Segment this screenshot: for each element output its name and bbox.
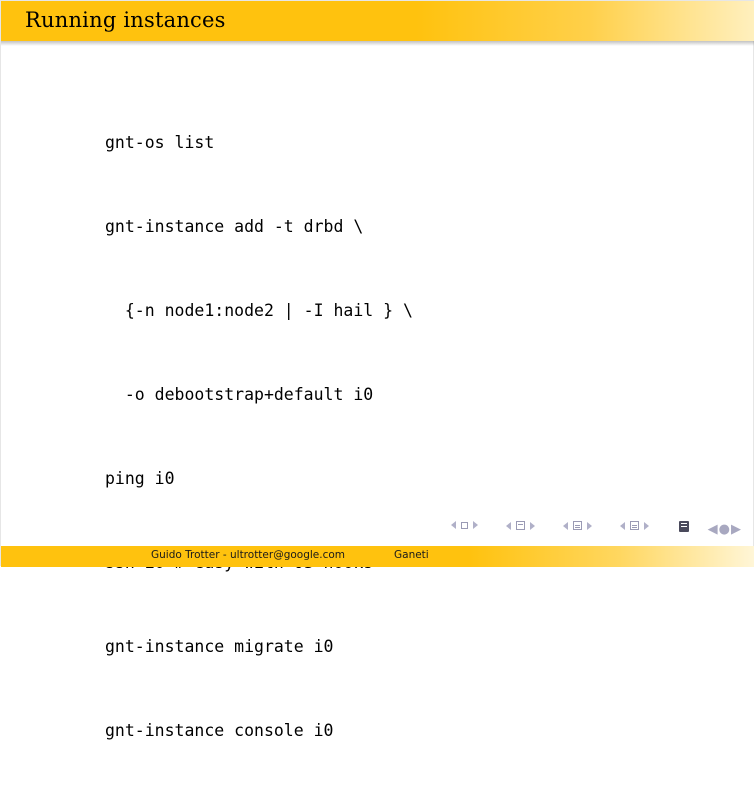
- frame-icon[interactable]: [516, 521, 525, 530]
- code-line: gnt-os list: [105, 129, 413, 157]
- slide-content: gnt-os list gnt-instance add -t drbd \ {…: [1, 46, 754, 541]
- footer-project: Ganeti: [394, 549, 429, 561]
- prev-frame-icon[interactable]: [506, 522, 511, 530]
- page-title: Running instances: [25, 8, 226, 32]
- next-frame-icon[interactable]: [530, 522, 535, 530]
- next-slide-icon[interactable]: [473, 521, 478, 529]
- prev-subsection-icon[interactable]: [563, 522, 568, 530]
- nav-section-group[interactable]: [620, 521, 649, 530]
- next-section-icon[interactable]: [644, 522, 649, 530]
- back-forward-icons[interactable]: ◀●▶: [708, 522, 742, 537]
- code-line: {-n node1:node2 | -I hail } \: [105, 297, 413, 325]
- document-icon[interactable]: [679, 521, 689, 532]
- code-line: gnt-instance add -t drbd \: [105, 213, 413, 241]
- footer-author: Guido Trotter - ultrotter@google.com: [151, 549, 345, 561]
- next-subsection-icon[interactable]: [587, 522, 592, 530]
- slide-footer: Guido Trotter - ultrotter@google.com Gan…: [1, 546, 754, 567]
- code-line: gnt-instance console i0: [105, 717, 413, 745]
- slide: Running instances gnt-os list gnt-instan…: [0, 0, 754, 566]
- slide-square-icon[interactable]: [461, 522, 468, 529]
- nav-frame-group[interactable]: [506, 521, 535, 530]
- nav-document-group[interactable]: [679, 521, 689, 532]
- section-icon[interactable]: [630, 521, 639, 530]
- slide-header: Running instances: [1, 1, 754, 41]
- code-line: -o debootstrap+default i0: [105, 381, 413, 409]
- code-line: ping i0: [105, 465, 413, 493]
- prev-slide-icon[interactable]: [451, 521, 456, 529]
- beamer-navigation-bar: ◀●▶: [1, 521, 754, 549]
- prev-section-icon[interactable]: [620, 522, 625, 530]
- nav-slide-group[interactable]: [451, 521, 478, 529]
- subsection-icon[interactable]: [573, 521, 582, 530]
- code-block: gnt-os list gnt-instance add -t drbd \ {…: [105, 73, 413, 801]
- code-line: gnt-instance migrate i0: [105, 633, 413, 661]
- nav-subsection-group[interactable]: [563, 521, 592, 530]
